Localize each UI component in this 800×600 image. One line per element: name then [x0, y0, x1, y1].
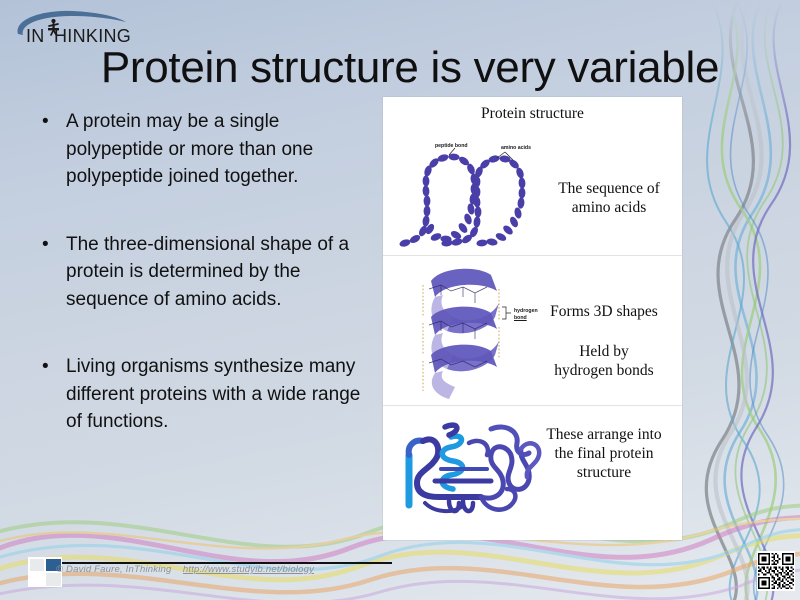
- list-item: • The three-dimensional shape of a prote…: [34, 231, 364, 314]
- caption-line: Forms 3D shapes: [531, 302, 677, 321]
- figure-title: Protein structure: [383, 105, 682, 123]
- peptide-bond-label: peptide bond: [435, 143, 468, 149]
- primary-structure-diagram: [397, 139, 545, 251]
- list-item: • A protein may be a single polypeptide …: [34, 108, 364, 191]
- footer-copyright: © David Faure, InThinking: [56, 564, 172, 575]
- footer-credit: © David Faure, InThinking http://www.stu…: [56, 564, 314, 575]
- hydrogen-bond-label-line2: bond: [514, 315, 527, 321]
- bullet-marker: •: [34, 231, 66, 259]
- amino-acids-label: amino acids: [501, 145, 531, 151]
- caption-line: amino acids: [543, 198, 675, 217]
- footer-logo-cell: [30, 573, 45, 586]
- bullet-text: The three-dimensional shape of a protein…: [66, 231, 364, 314]
- bullet-text: A protein may be a single polypeptide or…: [66, 108, 364, 191]
- bullet-list: • A protein may be a single polypeptide …: [34, 108, 364, 476]
- figure-divider: [383, 405, 682, 406]
- tertiary-structure-diagram: [395, 409, 547, 531]
- caption-line: the final protein: [533, 444, 675, 463]
- figure-caption-1: The sequence of amino acids: [543, 179, 675, 217]
- figure-caption-3: These arrange into the final protein str…: [533, 425, 675, 482]
- figure-caption-2a: Forms 3D shapes: [531, 302, 677, 321]
- bullet-marker: •: [34, 353, 66, 381]
- protein-structure-figure: Protein structure: [383, 97, 682, 540]
- footer-logo-cell: [30, 559, 45, 572]
- caption-line: structure: [533, 463, 675, 482]
- footer-url[interactable]: http://www.studyib.net/biology: [183, 564, 314, 575]
- svg-text:IN: IN: [26, 26, 45, 46]
- figure-divider: [383, 255, 682, 256]
- caption-line: hydrogen bonds: [531, 361, 677, 380]
- caption-line: These arrange into: [533, 425, 675, 444]
- figure-caption-2b: Held by hydrogen bonds: [531, 342, 677, 380]
- alpha-helix-diagram: [407, 263, 517, 401]
- bullet-text: Living organisms synthesize many differe…: [66, 353, 364, 436]
- page-title: Protein structure is very variable: [60, 42, 760, 94]
- caption-line: Held by: [531, 342, 677, 361]
- qr-code[interactable]: [757, 551, 795, 591]
- bullet-marker: •: [34, 108, 66, 136]
- list-item: • Living organisms synthesize many diffe…: [34, 353, 364, 436]
- slide: IN HINKING Protein structure is very var…: [0, 0, 800, 600]
- caption-line: The sequence of: [543, 179, 675, 198]
